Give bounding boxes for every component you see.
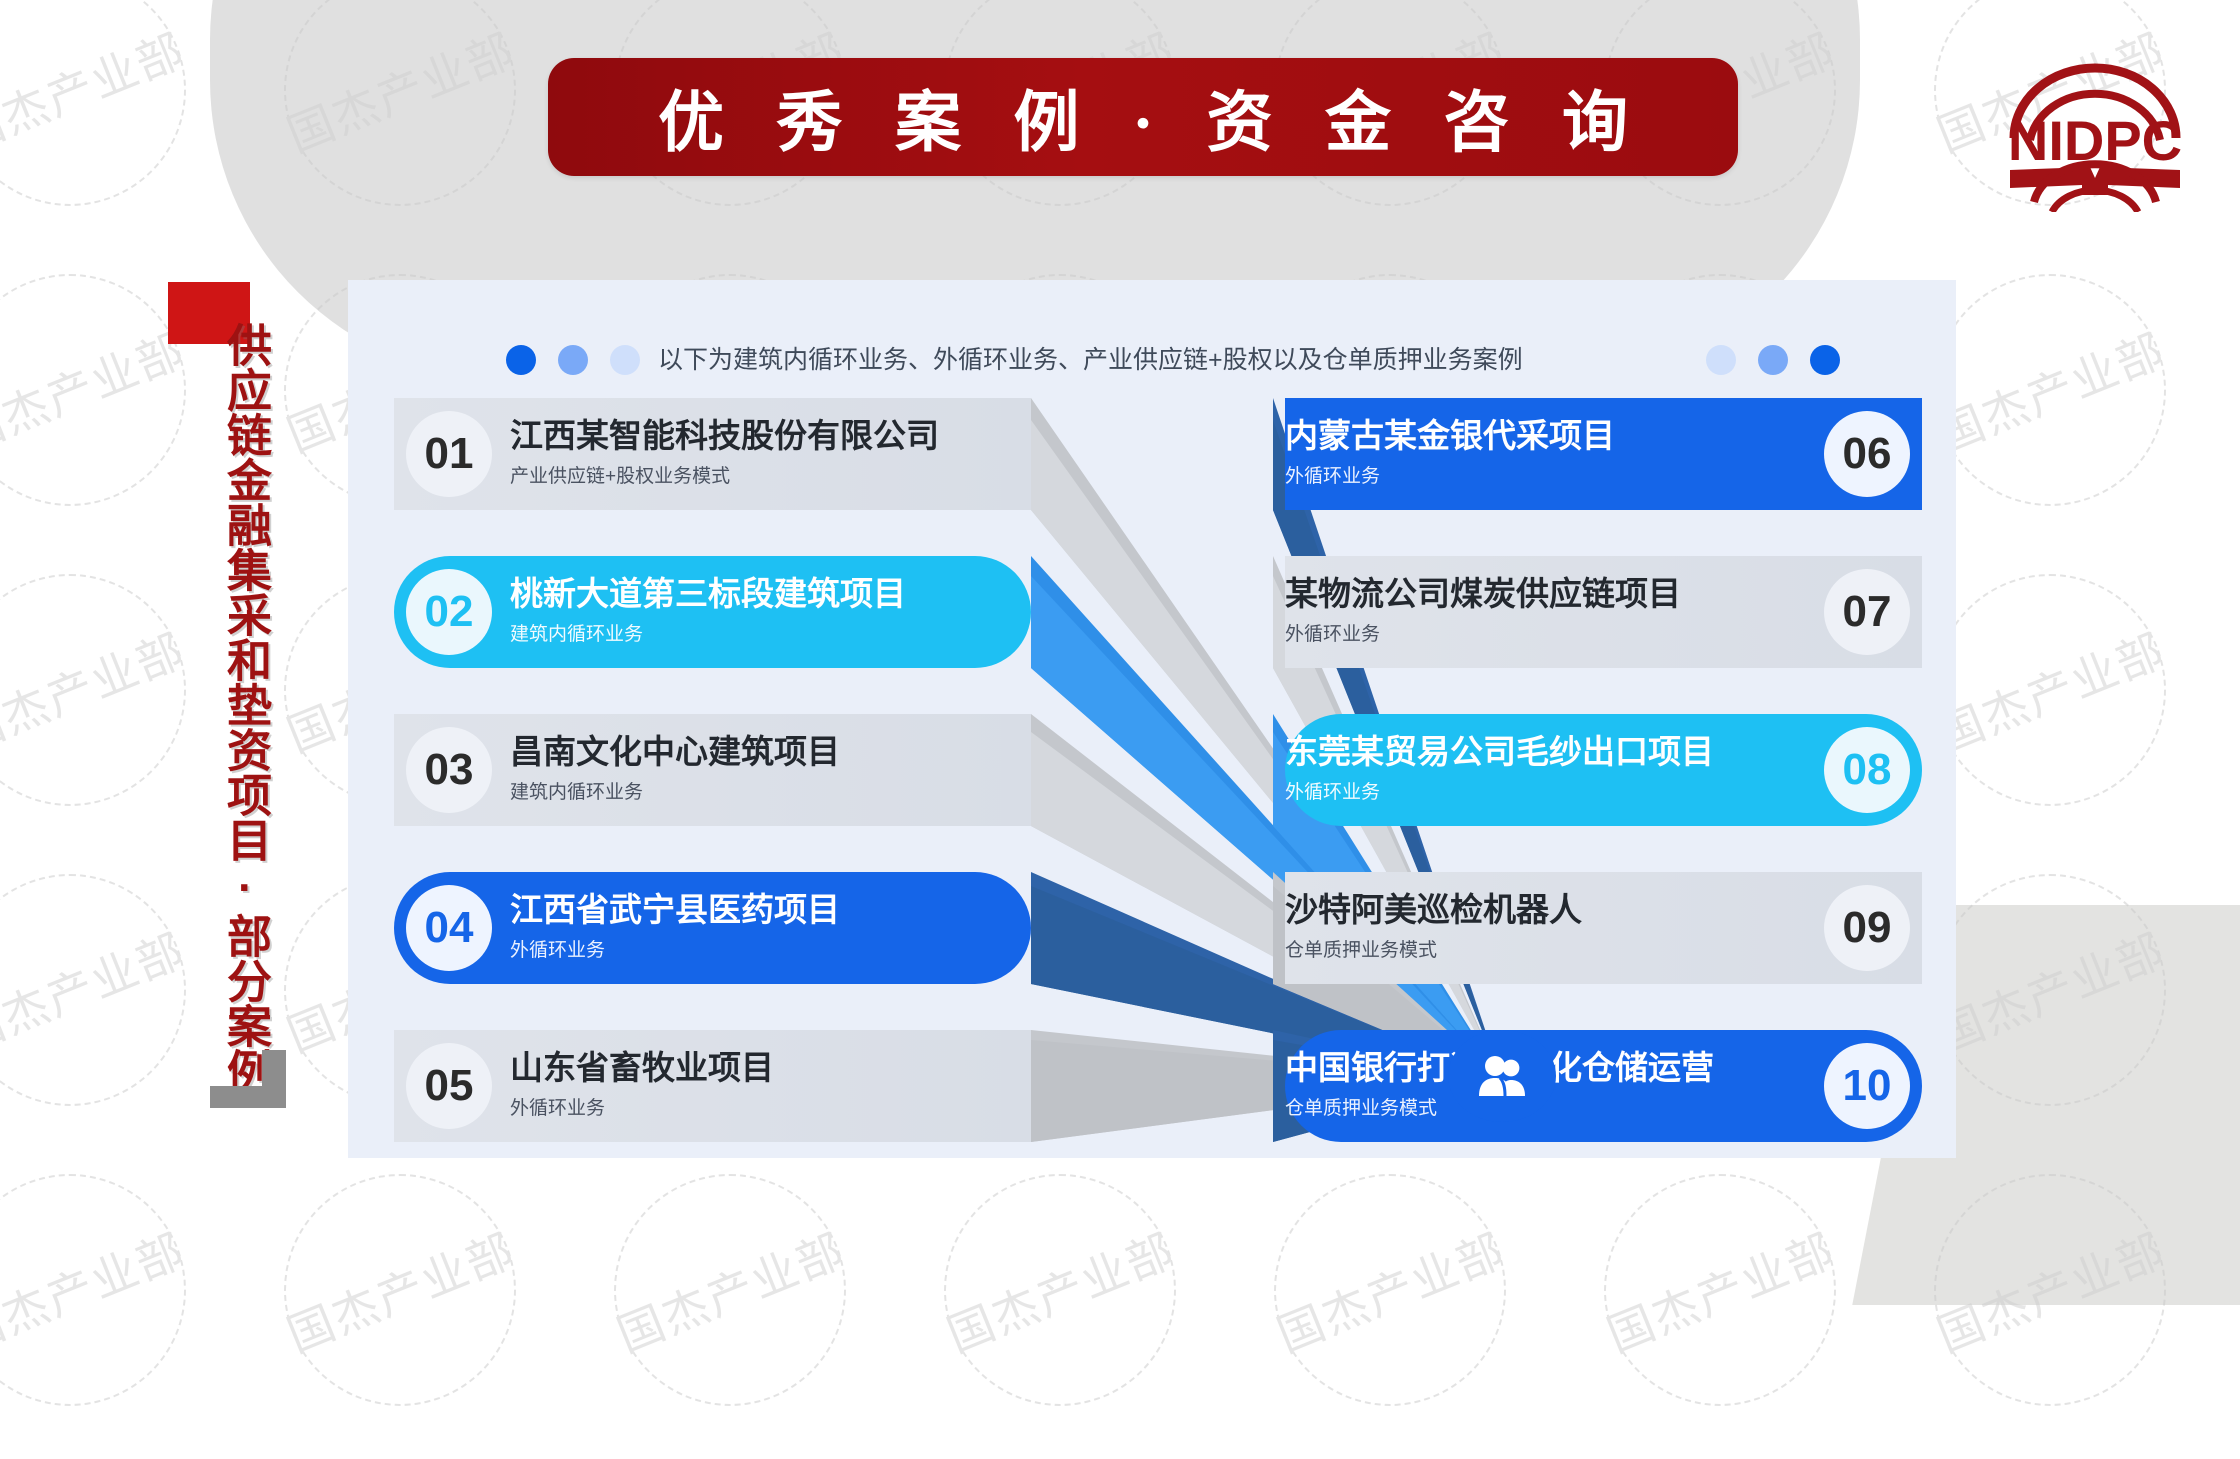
case-item-02[interactable]: 02桃新大道第三标段建筑项目建筑内循环业务: [394, 556, 1031, 668]
case-text-group: 桃新大道第三标段建筑项目建筑内循环业务: [510, 575, 1031, 649]
watermark-ring: [1604, 1174, 1836, 1406]
case-number-badge: 09: [1824, 885, 1910, 971]
case-subtitle: 外循环业务: [510, 1095, 1031, 1124]
case-item-03[interactable]: 03昌南文化中心建筑项目建筑内循环业务: [394, 714, 1031, 826]
case-title: 山东省畜牧业项目: [510, 1049, 1031, 1088]
case-item-04[interactable]: 04江西省武宁县医药项目外循环业务: [394, 872, 1031, 984]
case-number-badge: 08: [1824, 727, 1910, 813]
case-item-05[interactable]: 05山东省畜牧业项目外循环业务: [394, 1030, 1031, 1142]
watermark-text: 国杰产业部: [231, 1121, 569, 1459]
watermark-tile: 国杰产业部: [1920, 560, 2180, 820]
case-number-badge: 05: [406, 1043, 492, 1129]
case-subtitle: 外循环业务: [510, 937, 1031, 966]
case-item-10[interactable]: 10中国银行打造智能化仓储运营仓单质押业务模式: [1285, 1030, 1922, 1142]
case-number-badge: 10: [1824, 1043, 1910, 1129]
center-hub: [1448, 1030, 1556, 1122]
case-column-left: 01江西某智能科技股份有限公司产业供应链+股权业务模式02桃新大道第三标段建筑项…: [394, 398, 1019, 1140]
case-text-group: 某物流公司煤炭供应链项目外循环业务: [1285, 575, 1806, 649]
case-item-08[interactable]: 08东莞某贸易公司毛纱出口项目外循环业务: [1285, 714, 1922, 826]
watermark-tile: 国杰产业部: [930, 1160, 1190, 1420]
watermark-ring: [1934, 274, 2166, 506]
watermark-tile: 国杰产业部: [0, 1160, 200, 1420]
case-subtitle: 建筑内循环业务: [510, 621, 1031, 650]
case-item-09[interactable]: 09沙特阿美巡检机器人仓单质押业务模式: [1285, 872, 1922, 984]
case-column-right: 06内蒙古某金银代采项目外循环业务07某物流公司煤炭供应链项目外循环业务08东莞…: [1285, 398, 1910, 1140]
watermark-tile: 国杰产业部: [1260, 1160, 1520, 1420]
watermark-tile: 国杰产业部: [0, 0, 200, 220]
case-title: 内蒙古某金银代采项目: [1285, 417, 1615, 456]
case-title: 沙特阿美巡检机器人: [1285, 891, 1582, 930]
page-title: 优 秀 案 例 · 资 金 咨 询: [640, 69, 1646, 165]
case-subtitle: 外循环业务: [1285, 463, 1380, 492]
case-text-group: 沙特阿美巡检机器人仓单质押业务模式: [1285, 891, 1806, 965]
watermark-text: 国杰产业部: [891, 1121, 1229, 1459]
watermark-tile: 国杰产业部: [1920, 260, 2180, 520]
watermark-text: 国杰产业部: [0, 0, 239, 259]
watermark-text: 国杰产业部: [1551, 1121, 1889, 1459]
watermark-text: 国杰产业部: [561, 1121, 899, 1459]
case-text-group: 江西某智能科技股份有限公司产业供应链+股权业务模式: [510, 417, 1031, 491]
case-title: 江西省武宁县医药项目: [510, 891, 1031, 930]
case-subtitle: 仓单质押业务模式: [1285, 937, 1437, 966]
case-title: 江西某智能科技股份有限公司: [510, 417, 1031, 456]
gray-corner-mark: [210, 1050, 286, 1108]
users-icon: [1475, 1052, 1529, 1100]
side-title: 供应链金融集采和垫资项目·部分案例: [204, 322, 268, 1093]
case-subtitle: 仓单质押业务模式: [1285, 1095, 1437, 1124]
case-item-06[interactable]: 06内蒙古某金银代采项目外循环业务: [1285, 398, 1922, 510]
watermark-ring: [1934, 574, 2166, 806]
case-number-badge: 06: [1824, 411, 1910, 497]
case-subtitle: 产业供应链+股权业务模式: [510, 463, 1031, 492]
case-subtitle: 外循环业务: [1285, 779, 1380, 808]
watermark-text: 国杰产业部: [0, 1121, 239, 1459]
nidpc-logo-icon: NIDPC: [1990, 62, 2200, 212]
watermark-tile: 国杰产业部: [270, 1160, 530, 1420]
case-text-group: 江西省武宁县医药项目外循环业务: [510, 891, 1031, 965]
case-title: 某物流公司煤炭供应链项目: [1285, 575, 1681, 614]
case-text-group: 内蒙古某金银代采项目外循环业务: [1285, 417, 1806, 491]
watermark-ring: [284, 1174, 516, 1406]
case-subtitle: 建筑内循环业务: [510, 779, 1031, 808]
watermark-tile: 国杰产业部: [1590, 1160, 1850, 1420]
watermark-tile: 国杰产业部: [600, 1160, 860, 1420]
watermark-ring: [944, 1174, 1176, 1406]
watermark-ring: [0, 874, 186, 1106]
watermark-ring: [1274, 1174, 1506, 1406]
case-title: 东莞某贸易公司毛纱出口项目: [1285, 733, 1714, 772]
case-number-badge: 04: [406, 885, 492, 971]
case-item-01[interactable]: 01江西某智能科技股份有限公司产业供应链+股权业务模式: [394, 398, 1031, 510]
case-subtitle: 外循环业务: [1285, 621, 1380, 650]
case-number-badge: 01: [406, 411, 492, 497]
case-text-group: 山东省畜牧业项目外循环业务: [510, 1049, 1031, 1123]
watermark-ring: [0, 574, 186, 806]
watermark-ring: [0, 0, 186, 206]
watermark-ring: [614, 1174, 846, 1406]
case-item-07[interactable]: 07某物流公司煤炭供应链项目外循环业务: [1285, 556, 1922, 668]
case-number-badge: 02: [406, 569, 492, 655]
nidpc-logo: NIDPC: [1990, 62, 2200, 212]
watermark-ring: [0, 274, 186, 506]
case-text-group: 东莞某贸易公司毛纱出口项目外循环业务: [1285, 733, 1806, 807]
case-title: 桃新大道第三标段建筑项目: [510, 575, 1031, 614]
watermark-ring: [0, 1174, 186, 1406]
case-number-badge: 03: [406, 727, 492, 813]
page-title-banner: 优 秀 案 例 · 资 金 咨 询: [548, 58, 1738, 176]
case-list-card: 以下为建筑内循环业务、外循环业务、产业供应链+股权以及仓单质押业务案例: [348, 280, 1956, 1158]
watermark-text: 国杰产业部: [1221, 1121, 1559, 1459]
case-title: 昌南文化中心建筑项目: [510, 733, 1031, 772]
case-text-group: 昌南文化中心建筑项目建筑内循环业务: [510, 733, 1031, 807]
side-title-group: 供应链金融集采和垫资项目·部分案例: [168, 282, 298, 1122]
case-number-badge: 07: [1824, 569, 1910, 655]
